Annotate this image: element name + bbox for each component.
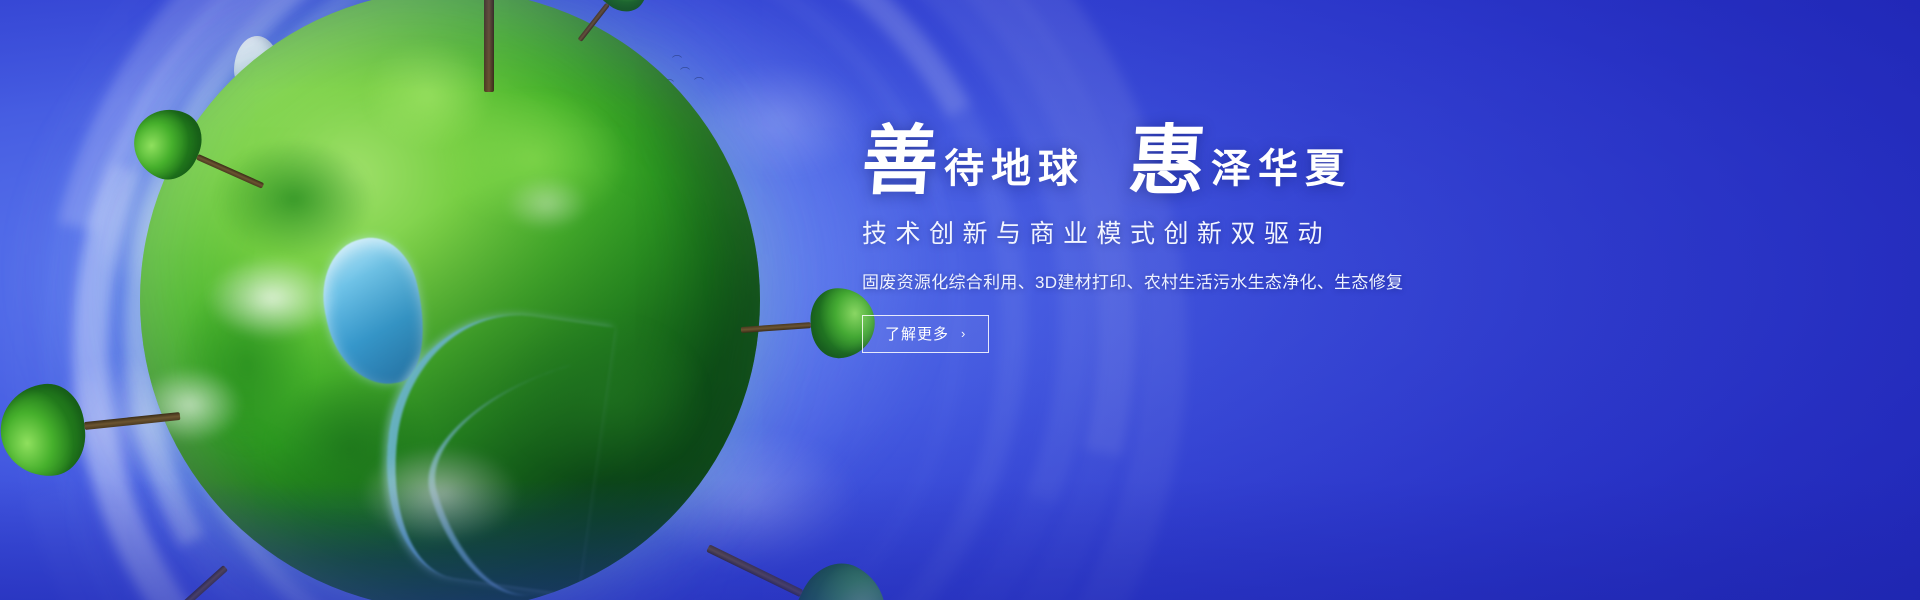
- tree: [430, 0, 548, 92]
- headline-phrase-1: 善 待地球: [862, 128, 1085, 198]
- hero-banner: ︵ ︵ ︵ ︵ ︵ ︵ ︵ ︵ ︵ ︵: [0, 0, 1920, 600]
- river-water: [407, 344, 702, 600]
- tree: [739, 286, 878, 365]
- headline-rest-1: 待地球: [944, 140, 1085, 198]
- river-water: [370, 299, 615, 595]
- page-title: 善 待地球 惠 泽华夏: [862, 128, 1502, 198]
- lake-water: [312, 230, 437, 395]
- tree: [0, 370, 185, 480]
- chevron-right-icon: ›: [961, 326, 966, 341]
- tree: [76, 537, 254, 600]
- headline-rest-2: 泽华夏: [1211, 140, 1352, 198]
- tree: [687, 505, 902, 600]
- hero-content: 善 待地球 惠 泽华夏 技术创新与商业模式创新双驱动 固废资源化综合利用、3D建…: [862, 128, 1502, 353]
- learn-more-button[interactable]: 了解更多 ›: [862, 315, 989, 353]
- headline-phrase-2: 惠 泽华夏: [1129, 128, 1352, 198]
- learn-more-button-label: 了解更多: [885, 323, 949, 344]
- subtitle: 技术创新与商业模式创新双驱动: [862, 214, 1502, 250]
- headline-lead-character-1: 善: [860, 128, 941, 198]
- green-planet-image: [140, 0, 760, 600]
- description: 固废资源化综合利用、3D建材打印、农村生活污水生态净化、生态修复: [862, 268, 1502, 293]
- headline-lead-character-2: 惠: [1127, 128, 1208, 198]
